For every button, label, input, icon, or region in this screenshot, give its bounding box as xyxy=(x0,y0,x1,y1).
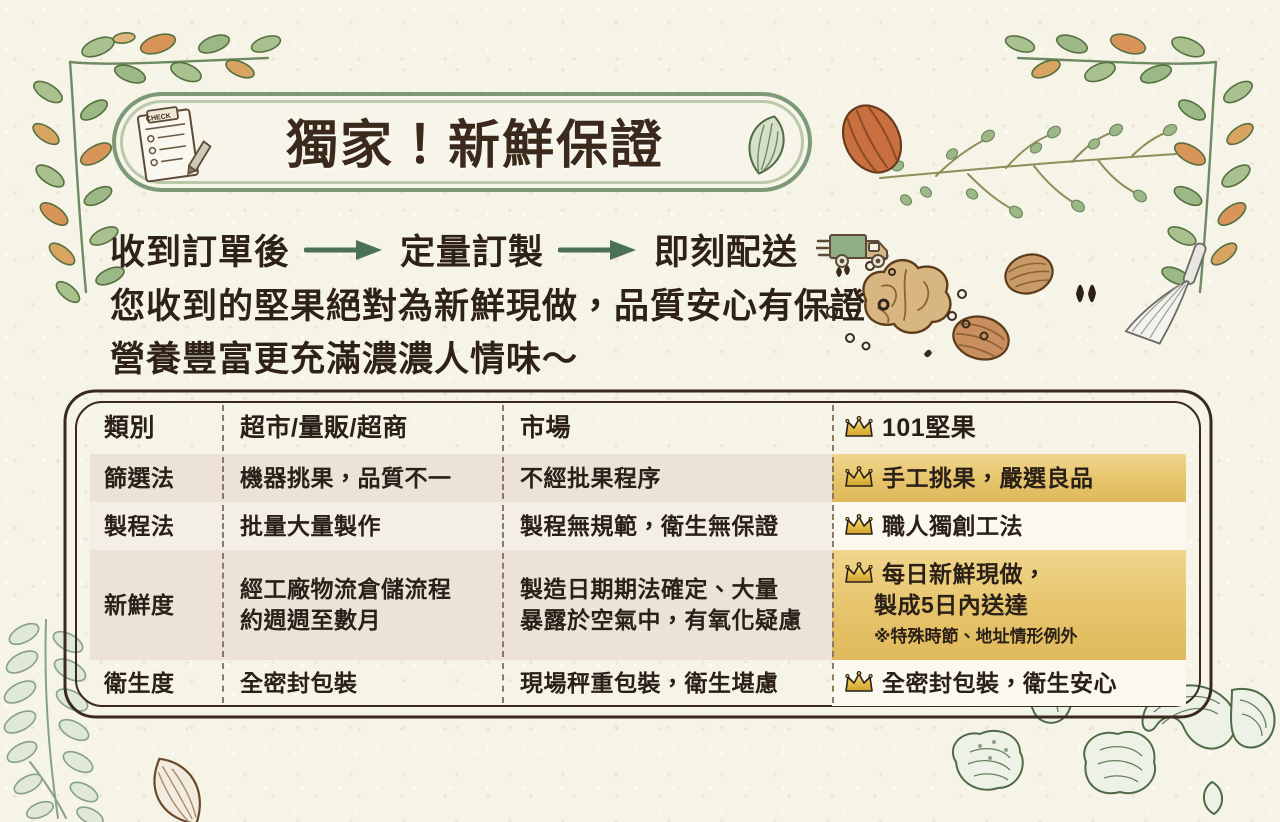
row-category: 篩選法 xyxy=(90,454,222,502)
description-paragraph: 您收到的堅果絕對為新鮮現做，品質安心有保證。 營養豐富更充滿濃濃人情味～ xyxy=(110,280,902,386)
table-row: 衛生度 全密封包裝 現場秤重包裝，衛生堪慮 全密封包裝，衛生安心 xyxy=(90,660,1186,706)
row-ours-text: 手工挑果，嚴選良品 xyxy=(882,463,1094,494)
row-market-line: 製造日期期法確定、大量 xyxy=(520,574,832,605)
row-ours-text: 製成5日內送達 xyxy=(844,590,1186,621)
row-ours-text: 職人獨創工法 xyxy=(882,511,1023,542)
table-row: 新鮮度 經工廠物流倉儲流程 約週週至數月 製造日期期法確定、大量 暴露於空氣中，… xyxy=(90,550,1186,660)
flow-step-2: 定量訂製 xyxy=(400,224,544,275)
row-category: 衛生度 xyxy=(90,660,222,706)
crown-icon xyxy=(844,514,874,538)
column-header-category: 類別 xyxy=(90,402,222,454)
process-flow: 收到訂單後 定量訂製 即刻配送 xyxy=(110,224,900,275)
row-ours-highlighted: 手工挑果，嚴選良品 xyxy=(832,454,1186,502)
row-market: 製程無規範，衛生無保證 xyxy=(502,502,832,550)
row-supermarket: 全密封包裝 xyxy=(222,660,502,706)
row-ours-text: 每日新鮮現做， xyxy=(882,559,1047,590)
row-ours-note: ※特殊時節、地址情形例外 xyxy=(844,621,1186,652)
row-category: 新鮮度 xyxy=(90,550,222,660)
paragraph-line: 營養豐富更充滿濃濃人情味～ xyxy=(110,333,902,386)
crown-icon xyxy=(844,466,874,490)
paragraph-line: 您收到的堅果絕對為新鮮現做，品質安心有保證。 xyxy=(110,280,902,333)
row-supermarket: 機器挑果，品質不一 xyxy=(222,454,502,502)
row-category: 製程法 xyxy=(90,502,222,550)
row-market: 製造日期期法確定、大量 暴露於空氣中，有氧化疑慮 xyxy=(502,550,832,660)
flow-step-1: 收到訂單後 xyxy=(110,224,290,275)
flow-step-3: 即刻配送 xyxy=(654,224,798,275)
table-row: 篩選法 機器挑果，品質不一 不經批果程序 手工挑果，嚴選良品 xyxy=(90,454,1186,502)
comparison-table: 類別 超市/量販/超商 市場 xyxy=(90,402,1186,706)
table-row: 製程法 批量大量製作 製程無規範，衛生無保證 職人獨創工法 xyxy=(90,502,1186,550)
table-header-row: 類別 超市/量販/超商 市場 xyxy=(90,402,1186,454)
row-market: 現場秤重包裝，衛生堪慮 xyxy=(502,660,832,706)
arrow-right-icon xyxy=(558,237,640,263)
row-ours-text: 全密封包裝，衛生安心 xyxy=(882,668,1117,699)
comparison-table-frame: 類別 超市/量販/超商 市場 xyxy=(62,388,1214,720)
column-header-supermarket: 超市/量販/超商 xyxy=(222,402,502,454)
crown-icon xyxy=(844,671,874,695)
row-supermarket-line: 約週週至數月 xyxy=(240,605,502,636)
row-supermarket: 批量大量製作 xyxy=(222,502,502,550)
column-header-ours: 101堅果 xyxy=(832,402,1186,454)
row-ours-highlighted: 每日新鮮現做， 製成5日內送達 ※特殊時節、地址情形例外 xyxy=(832,550,1186,660)
row-market-line: 暴露於空氣中，有氧化疑慮 xyxy=(520,605,832,636)
row-supermarket-line: 經工廠物流倉儲流程 xyxy=(240,574,502,605)
page-title: 獨家！新鮮保證 xyxy=(112,103,812,178)
row-ours: 全密封包裝，衛生安心 xyxy=(832,660,1186,706)
row-supermarket: 經工廠物流倉儲流程 約週週至數月 xyxy=(222,550,502,660)
arrow-right-icon xyxy=(304,237,386,263)
delivery-truck-icon xyxy=(816,227,900,273)
row-ours: 職人獨創工法 xyxy=(832,502,1186,550)
crown-icon xyxy=(844,416,874,440)
title-banner: CHECK 獨家！新鮮保證 xyxy=(112,92,812,192)
column-header-ours-label: 101堅果 xyxy=(882,413,976,444)
crown-icon xyxy=(844,562,874,586)
column-header-market: 市場 xyxy=(502,402,832,454)
row-market: 不經批果程序 xyxy=(502,454,832,502)
